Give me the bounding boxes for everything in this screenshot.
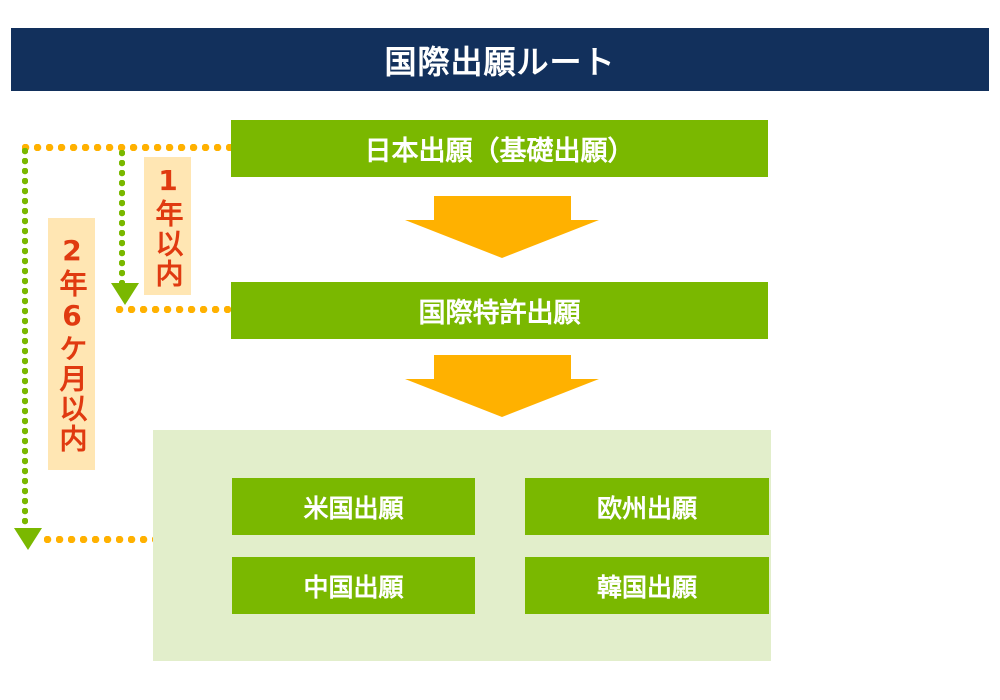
- duration-two-years-six-months-label: 2年6ケ月以内: [58, 234, 86, 454]
- process-box-japan-filing-label: 日本出願（基礎出願）: [365, 129, 635, 168]
- page-title-banner: 国際出願ルート: [11, 28, 989, 91]
- connector-japan-horizontal: [22, 144, 234, 151]
- destination-box-china[interactable]: 中国出願: [232, 557, 475, 614]
- destination-box-us[interactable]: 米国出願: [232, 478, 475, 535]
- process-box-japan-filing[interactable]: 日本出願（基礎出願）: [231, 120, 768, 177]
- connector-international-horizontal: [116, 306, 236, 313]
- duration-badge-one-year: 1年以内: [144, 157, 191, 295]
- process-box-international-filing[interactable]: 国際特許出願: [231, 282, 768, 339]
- destinations-panel: [153, 430, 771, 661]
- process-box-international-filing-label: 国際特許出願: [419, 291, 581, 330]
- connector-one-year-vertical: [119, 150, 125, 285]
- connector-thirty-month-vertical: [22, 148, 28, 535]
- page-title: 国際出願ルート: [384, 37, 615, 83]
- duration-one-year-label: 1年以内: [154, 164, 182, 289]
- destination-box-us-label: 米国出願: [303, 489, 403, 525]
- connector-one-year-arrowhead-icon: [111, 283, 139, 305]
- destination-box-korea[interactable]: 韓国出願: [525, 557, 769, 614]
- destination-box-china-label: 中国出願: [303, 568, 403, 604]
- duration-badge-two-years-six-months: 2年6ケ月以内: [48, 218, 95, 470]
- connector-thirty-month-arrowhead-icon: [14, 528, 42, 550]
- destination-box-europe[interactable]: 欧州出願: [525, 478, 769, 535]
- destination-box-korea-label: 韓国出願: [597, 568, 697, 604]
- connector-destinations-horizontal: [44, 536, 154, 543]
- diagram-canvas: 国際出願ルート 1年以内 2年6ケ月以内 日本出願（基礎出願） 国際特許出願 米…: [0, 0, 1000, 700]
- destination-box-europe-label: 欧州出願: [597, 489, 697, 525]
